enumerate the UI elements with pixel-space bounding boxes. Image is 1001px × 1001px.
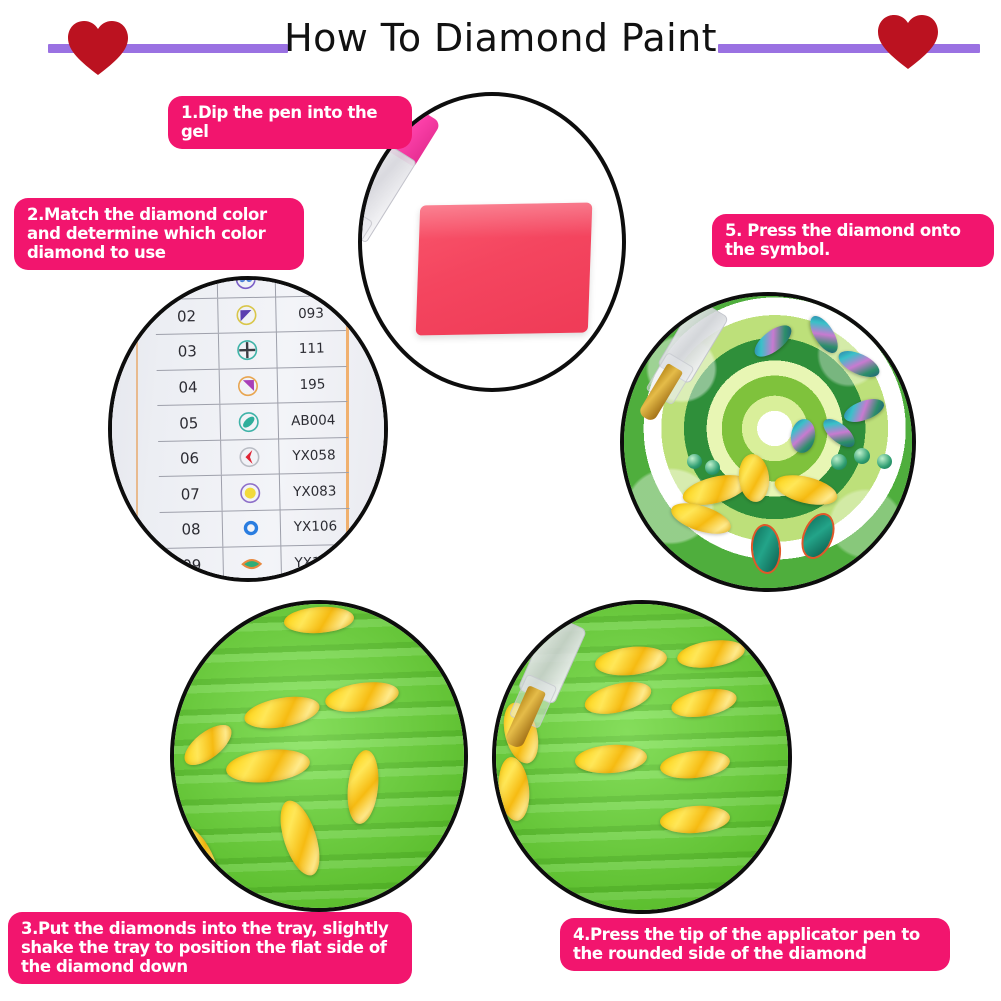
step-5-label: 5. Press the diamond onto the symbol. [712, 214, 994, 267]
gem-round [831, 454, 847, 470]
legend-code: YX083 [280, 473, 350, 509]
step-1-label: 1.Dip the pen into the gel [168, 96, 412, 149]
table-row: 09YX125 [161, 545, 352, 582]
legend-number: 09 [161, 547, 225, 582]
canvas-photo-inner [624, 296, 912, 588]
gel-pad [416, 203, 593, 336]
legend-code: YX058 [279, 438, 349, 474]
table-row: 06YX058 [158, 438, 349, 478]
legend-code: AB004 [278, 402, 348, 438]
legend-symbol-cell [222, 475, 280, 511]
legend-symbol-cell [221, 404, 279, 440]
step-2-label: 2.Match the diamond color and determine … [14, 198, 304, 270]
legend-number: 06 [158, 441, 222, 477]
page-title: How To Diamond Paint [0, 16, 1001, 60]
table-row: 05AB004 [158, 402, 349, 442]
tray-photo-inner [174, 604, 464, 908]
legend-symbol-cell [222, 439, 280, 475]
legend-code: 195 [278, 367, 348, 403]
legend-number: 04 [157, 369, 221, 405]
chart-margin-line-left [136, 280, 138, 578]
legend-code: YX106 [281, 509, 351, 545]
table-row: 10YX130 [161, 580, 352, 582]
legend-symbol-flag-triangle-circle [237, 375, 259, 397]
legend-symbol-cell [219, 297, 277, 333]
color-legend-table: 0102002093031110419505AB00406YX05807YX08… [155, 276, 353, 582]
legend-symbol-filled-triangle-circle [236, 304, 258, 326]
legend-code: YX125 [281, 545, 351, 581]
legend-symbol-cell [223, 511, 281, 547]
placing-diamond-on-canvas-photo [620, 292, 916, 592]
table-row: 04195 [157, 367, 348, 407]
step-3-label: 3.Put the diamonds into the tray, slight… [8, 912, 412, 984]
legend-symbol-cell [224, 546, 282, 582]
legend-code: 111 [277, 331, 347, 367]
legend-code: YX130 [282, 580, 352, 582]
legend-number: 07 [159, 476, 223, 512]
legend-code: 093 [276, 296, 346, 332]
table-row: 08YX106 [160, 509, 351, 549]
table-row: 02093 [155, 296, 346, 336]
diamonds-in-green-tray-photo [170, 600, 468, 912]
poster-header: How To Diamond Paint [0, 0, 1001, 90]
legend-symbol-ring-circle [240, 517, 262, 539]
legend-number: 02 [155, 298, 219, 334]
table-row: 03111 [156, 331, 347, 371]
chart-photo-inner: 0102002093031110419505AB00406YX05807YX08… [112, 280, 384, 578]
legend-symbol-leaf-circle [241, 553, 263, 575]
legend-code: 020 [275, 276, 345, 296]
step-4-label: 4.Press the tip of the applicator pen to… [560, 918, 950, 971]
legend-symbol-cell [219, 333, 277, 369]
gem-round [705, 460, 720, 475]
gem-round [687, 454, 702, 469]
legend-number: 03 [156, 334, 220, 370]
legend-symbol-filled-dot-circle [240, 482, 262, 504]
poster-canvas: How To Diamond Paint 0102002093031110419… [0, 0, 1001, 1001]
legend-number: 05 [158, 405, 222, 441]
legend-symbol-left-arrow-circle [239, 446, 261, 468]
color-chart-photo: 0102002093031110419505AB00406YX05807YX08… [108, 276, 388, 582]
table-row: 07YX083 [159, 473, 350, 513]
legend-symbol-double-dot-circle [235, 276, 257, 291]
pen-brass-tip [358, 215, 361, 265]
legend-symbol-plus-circle [237, 339, 259, 361]
legend-symbol-cell [220, 368, 278, 404]
legend-symbol-cell [218, 276, 276, 297]
legend-symbol-slash-oval-circle [238, 411, 260, 433]
legend-number: 08 [160, 512, 224, 548]
tray-pen-photo-inner [496, 604, 788, 910]
legend-number: 01 [155, 276, 219, 299]
pen-picking-up-diamond-photo [492, 600, 792, 914]
